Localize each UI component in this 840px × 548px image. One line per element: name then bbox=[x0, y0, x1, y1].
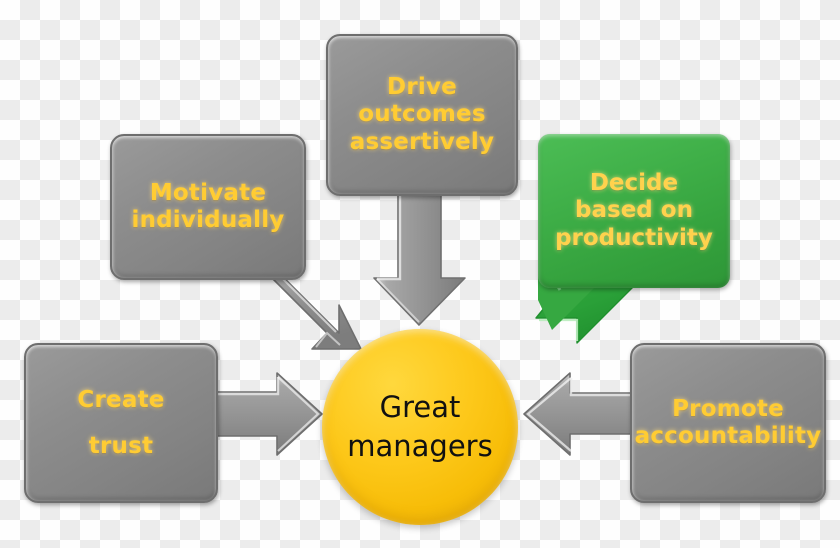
node-create-trust[interactable]: Createtrust bbox=[24, 343, 218, 503]
node-label: Promoteaccountability bbox=[627, 396, 830, 450]
node-decide-based-on-productivity[interactable]: Decidebased onproductivity bbox=[538, 134, 730, 288]
node-great-managers[interactable]: Greatmanagers bbox=[322, 329, 518, 525]
node-label: Motivateindividually bbox=[123, 180, 292, 234]
node-label: Driveoutcomesassertively bbox=[342, 74, 502, 155]
node-drive-outcomes-assertively[interactable]: Driveoutcomesassertively bbox=[326, 34, 518, 196]
node-promote-accountability[interactable]: Promoteaccountability bbox=[630, 343, 826, 503]
node-motivate-individually[interactable]: Motivateindividually bbox=[110, 134, 306, 280]
diagram-canvas: Motivateindividually Driveoutcomesassert… bbox=[0, 0, 840, 548]
node-label: Decidebased onproductivity bbox=[549, 170, 719, 251]
center-label: Greatmanagers bbox=[347, 388, 492, 466]
node-label: Createtrust bbox=[69, 377, 172, 469]
